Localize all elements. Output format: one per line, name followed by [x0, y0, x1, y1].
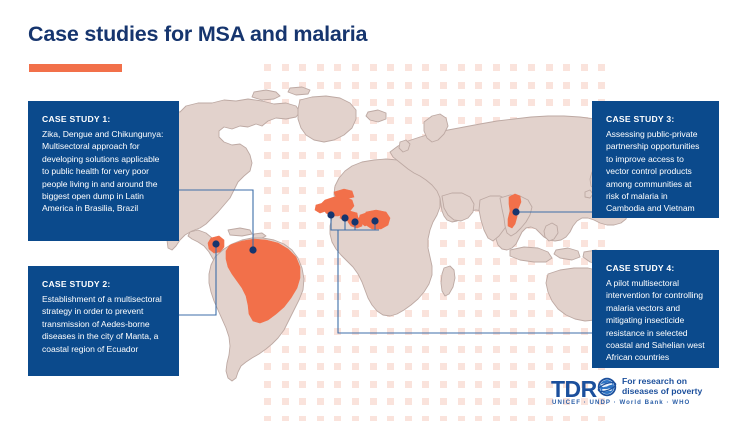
tdr-partners: UNICEF · UNDP · World Bank · WHO — [552, 399, 690, 406]
case-study-2-label: CASE STUDY 2: — [42, 278, 166, 290]
land-caribbean-1 — [228, 228, 252, 236]
land-greenland — [298, 96, 356, 142]
land-arctic-islands-1 — [252, 90, 280, 100]
marker-mali — [327, 211, 334, 218]
map-landmasses — [104, 87, 650, 381]
tdr-logo[interactable]: TDR For research on diseases of poverty … — [551, 374, 731, 414]
marker-ecuador — [212, 240, 219, 247]
marker-nigeria — [371, 217, 378, 224]
land-indonesia-2 — [554, 248, 580, 260]
globe-icon — [597, 377, 617, 397]
case-study-4-box[interactable]: CASE STUDY 4: A pilot multisectoral inte… — [592, 250, 719, 368]
marker-ghana — [351, 218, 358, 225]
land-indonesia-1 — [510, 247, 552, 262]
case-study-3-label: CASE STUDY 3: — [606, 113, 706, 125]
land-madagascar — [441, 266, 455, 296]
case-study-1-label: CASE STUDY 1: — [42, 113, 166, 125]
land-africa — [330, 159, 440, 316]
case-study-1-box[interactable]: CASE STUDY 1: Zika, Dengue and Chikungun… — [28, 101, 179, 241]
case-study-3-box[interactable]: CASE STUDY 3: Assessing public-private p… — [592, 101, 719, 218]
case-study-2-text: Establishment of a multisectoral strateg… — [42, 293, 166, 355]
tdr-tagline: For research on diseases of poverty — [622, 377, 732, 396]
case-study-4-label: CASE STUDY 4: — [606, 262, 706, 274]
case-study-4-text: A pilot multisectoral intervention for c… — [606, 277, 706, 364]
infographic-canvas: Case studies for MSA and malaria — [0, 0, 741, 421]
marker-brazil — [249, 246, 256, 253]
case-study-1-text: Zika, Dengue and Chikungunya: Multisecto… — [42, 128, 166, 215]
land-iceland — [366, 110, 386, 122]
case-study-2-box[interactable]: CASE STUDY 2: Establishment of a multise… — [28, 266, 179, 376]
highlight-senegal — [315, 203, 327, 213]
case-study-3-text: Assessing public-private partnership opp… — [606, 128, 706, 215]
land-uk — [399, 140, 410, 152]
marker-vietnam — [512, 208, 519, 215]
land-arctic-islands-2 — [288, 87, 310, 95]
marker-burkina-faso — [341, 214, 348, 221]
tdr-tagline-line-2: diseases of poverty — [622, 387, 732, 397]
